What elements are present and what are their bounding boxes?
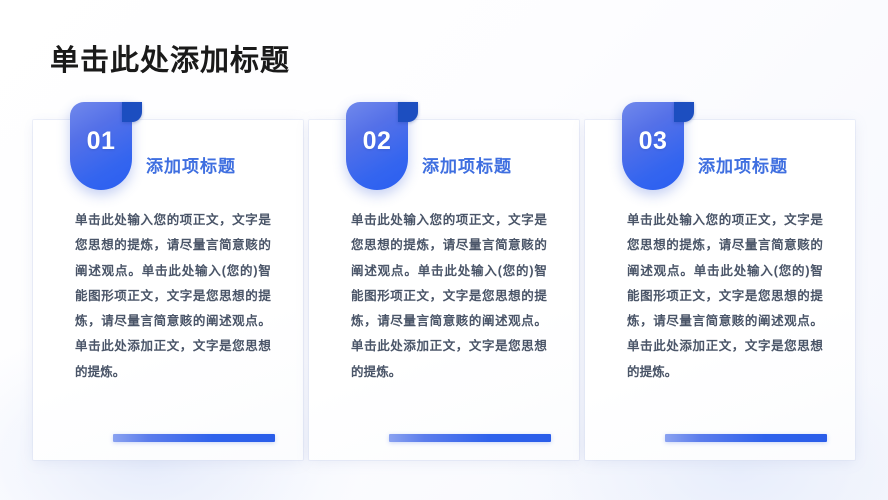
card-body-1[interactable]: 单击此处输入您的项正文，文字是您思想的提炼，请尽量言简意赅的阐述观点。单击此处输… — [75, 208, 271, 385]
content-card-1[interactable]: 01 添加项标题 单击此处输入您的项正文，文字是您思想的提炼，请尽量言简意赅的阐… — [33, 120, 303, 460]
page-title[interactable]: 单击此处添加标题 — [50, 44, 290, 79]
card-accent-bar-3 — [665, 434, 827, 442]
badge-number-label: 02 — [346, 102, 408, 190]
slide-canvas: 单击此处添加标题 01 添加项标题 单击此处输入您的项正文，文字是您思想的提炼，… — [0, 0, 888, 500]
card-title-2[interactable]: 添加项标题 — [422, 152, 512, 177]
number-badge-1: 01 — [70, 102, 132, 190]
card-title-3[interactable]: 添加项标题 — [698, 152, 788, 177]
cards-container: 01 添加项标题 单击此处输入您的项正文，文字是您思想的提炼，请尽量言简意赅的阐… — [33, 120, 855, 460]
card-accent-bar-1 — [113, 434, 275, 442]
card-body-3[interactable]: 单击此处输入您的项正文，文字是您思想的提炼，请尽量言简意赅的阐述观点。单击此处输… — [627, 208, 823, 385]
card-body-2[interactable]: 单击此处输入您的项正文，文字是您思想的提炼，请尽量言简意赅的阐述观点。单击此处输… — [351, 208, 547, 385]
content-card-3[interactable]: 03 添加项标题 单击此处输入您的项正文，文字是您思想的提炼，请尽量言简意赅的阐… — [585, 120, 855, 460]
card-accent-bar-2 — [389, 434, 551, 442]
card-title-1[interactable]: 添加项标题 — [146, 152, 236, 177]
content-card-2[interactable]: 02 添加项标题 单击此处输入您的项正文，文字是您思想的提炼，请尽量言简意赅的阐… — [309, 120, 579, 460]
number-badge-3: 03 — [622, 102, 684, 190]
number-badge-2: 02 — [346, 102, 408, 190]
badge-number-label: 03 — [622, 102, 684, 190]
badge-number-label: 01 — [70, 102, 132, 190]
